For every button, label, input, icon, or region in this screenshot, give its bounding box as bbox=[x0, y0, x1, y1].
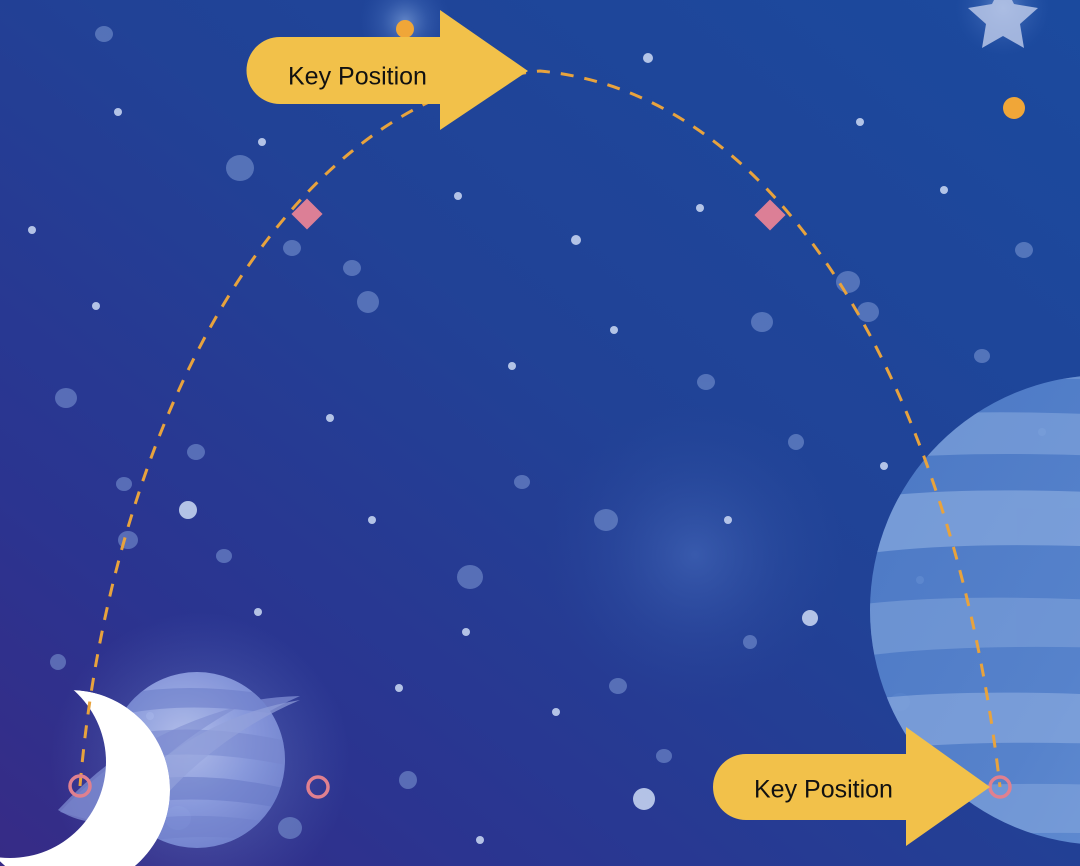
annotation-label-apex: Key Position bbox=[288, 63, 427, 91]
orange-star-right bbox=[1003, 97, 1025, 119]
scene-canvas: Key Position Key Position bbox=[0, 0, 1080, 866]
space-scene: Key Position Key Position bbox=[0, 0, 1080, 866]
center-glow bbox=[545, 405, 845, 705]
annotation-label-landing: Key Position bbox=[754, 776, 893, 804]
